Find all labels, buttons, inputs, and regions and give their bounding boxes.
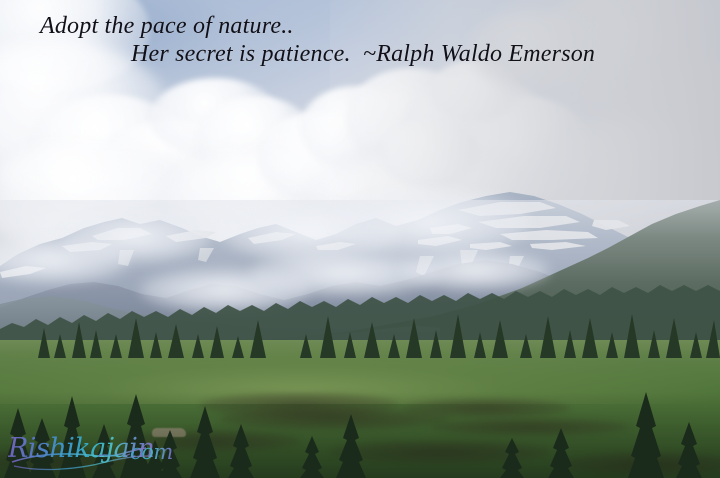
ridge-conifer-row	[0, 300, 720, 360]
mountain-mist	[400, 250, 550, 290]
foreground-conifers	[0, 352, 720, 478]
nature-quote-photograph: Adopt the pace of nature.. Her secret is…	[0, 0, 720, 478]
quote-line-2: Her secret is patience. ~Ralph Waldo Eme…	[131, 40, 595, 68]
quote-line-1: Adopt the pace of nature..	[40, 12, 294, 40]
mountain-mist	[330, 188, 530, 258]
quote-overlay: Adopt the pace of nature.. Her secret is…	[0, 0, 720, 72]
